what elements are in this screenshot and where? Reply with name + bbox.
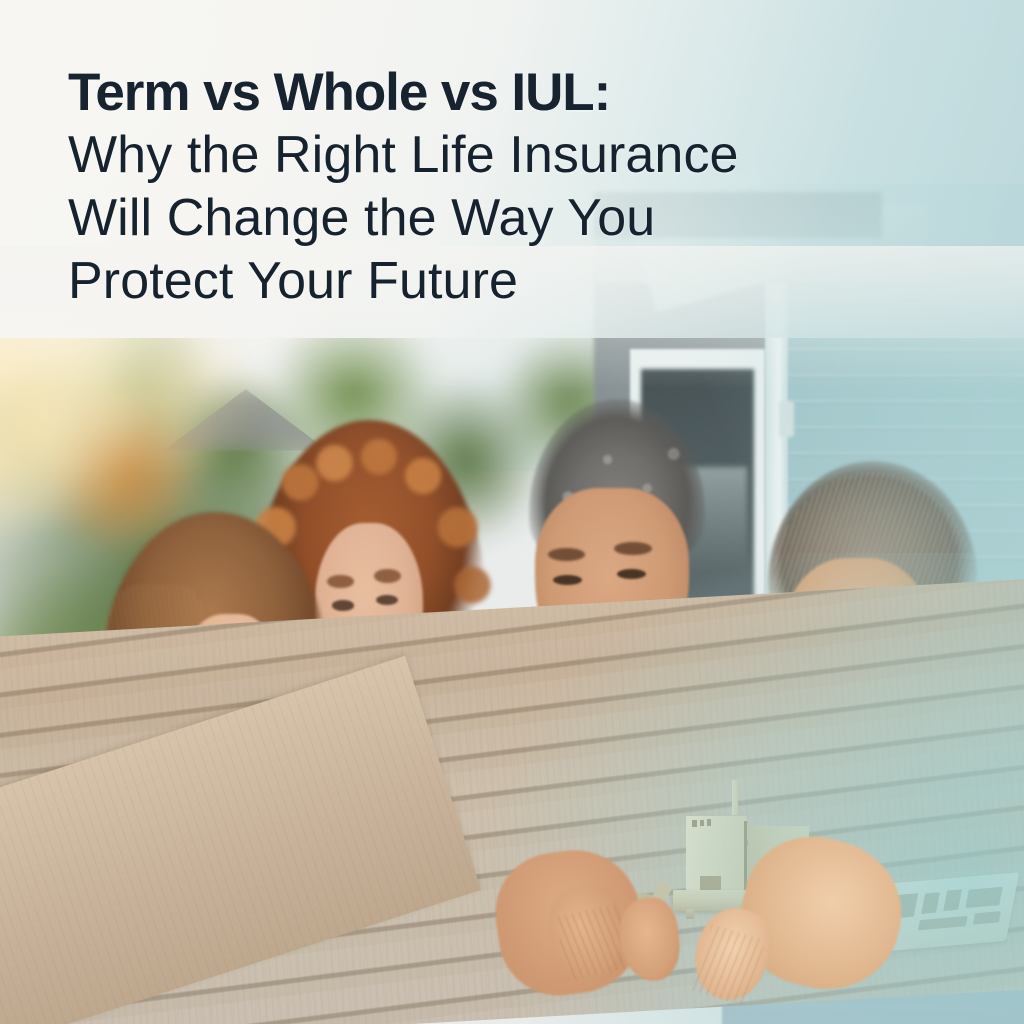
headline-line-1: Term vs Whole vs IUL: xyxy=(68,62,918,124)
headline-line-4: Protect Your Future xyxy=(68,250,918,313)
headline-line-3: Will Change the Way You xyxy=(68,187,918,250)
father-hands-group xyxy=(481,399,747,993)
headline-line-2: Why the Right Life Insurance xyxy=(68,124,918,187)
headline-block: Term vs Whole vs IUL: Why the Right Life… xyxy=(68,62,918,313)
mother-eye xyxy=(332,600,354,610)
son-arm-group xyxy=(758,461,1014,1024)
father-hand xyxy=(616,895,683,984)
social-graphic-canvas: Term vs Whole vs IUL: Why the Right Life… xyxy=(0,0,1024,1024)
